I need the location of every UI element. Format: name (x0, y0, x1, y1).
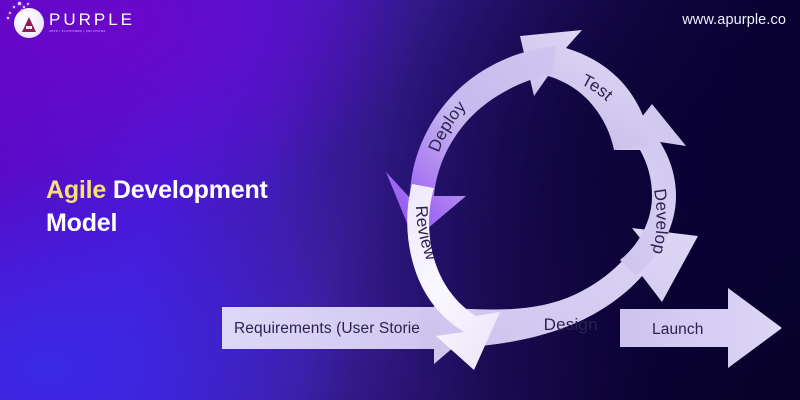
flow-bar-requirements-label: Requirements (User Stories) (234, 320, 433, 337)
agile-cycle-diagram: Requirements (User Stories) Launch Desig… (0, 0, 800, 400)
cycle-arrow-design-label: Design (544, 315, 598, 334)
flow-bar-launch-label: Launch (652, 321, 703, 338)
cycle-arrow-test: Test (520, 30, 650, 150)
flow-bar-launch: Launch (620, 288, 782, 368)
infographic-canvas: PURPLE APPS | PLATFORMS | SOLUTIONS www.… (0, 0, 800, 400)
